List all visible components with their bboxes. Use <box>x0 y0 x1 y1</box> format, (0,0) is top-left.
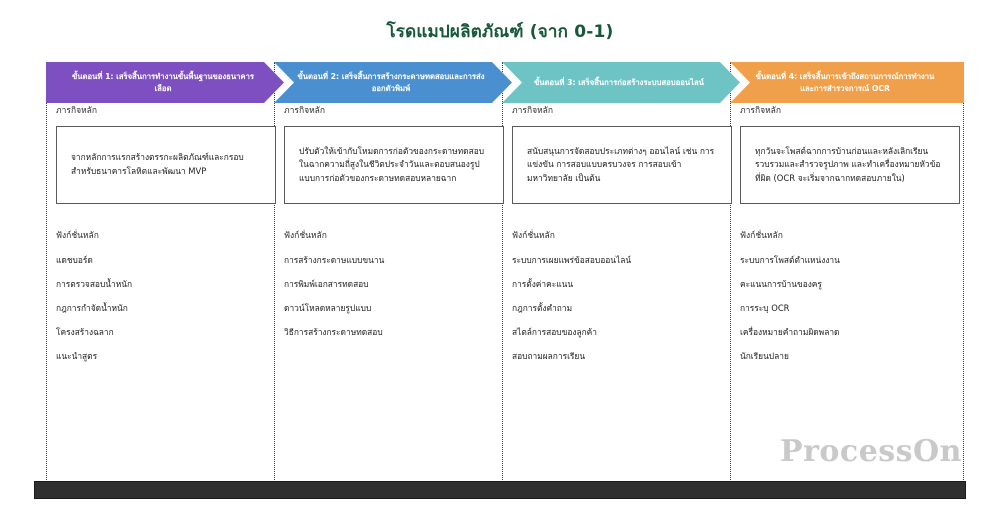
stage-chevron-3-label: ขั้นตอนที่ 3: เสร็จสิ้นการก่อสร้างระบบสอ… <box>512 77 730 88</box>
stage-chevron-band: ขั้นตอนที่ 1: เสร็จสิ้นการทำงานขั้นพื้นฐ… <box>46 62 964 103</box>
list-item: การตรวจสอบน้ำหนัก <box>56 279 276 290</box>
stage-chevron-2-label: ขั้นตอนที่ 2: เสร็จสิ้นการสร้างกระดาษทดส… <box>274 71 512 93</box>
mission-text-2: ปรับตัวให้เข้ากับโหมดการก่อตัวของกระดาษท… <box>299 145 489 186</box>
list-item: แนะนำสูตร <box>56 351 276 362</box>
features-label-2: ฟังก์ชั่นหลัก <box>284 228 504 242</box>
mission-box-3: สนับสนุนการจัดสอบประเภทต่างๆ ออนไลน์ เช่… <box>512 126 732 204</box>
features-label-3: ฟังก์ชั่นหลัก <box>512 228 732 242</box>
mission-box-2: ปรับตัวให้เข้ากับโหมดการก่อตัวของกระดาษท… <box>284 126 504 204</box>
list-item: วิธีการสร้างกระดาษทดสอบ <box>284 327 504 338</box>
mission-label-3: ภารกิจหลัก <box>512 103 732 117</box>
stage-chevron-4-label: ขั้นตอนที่ 4: เสร็จสิ้นการเข้าถึงสถานการ… <box>730 71 964 93</box>
stage-column-3: ภารกิจหลัก สนับสนุนการจัดสอบประเภทต่างๆ … <box>502 103 732 362</box>
list-item: แดชบอร์ด <box>56 255 276 266</box>
feature-list-2: การสร้างกระดาษแบบขนาน การพิมพ์เอกสารทดสอ… <box>274 255 504 338</box>
feature-list-1: แดชบอร์ด การตรวจสอบน้ำหนัก กฎการกำจัดน้ำ… <box>46 255 276 362</box>
mission-label-4: ภารกิจหลัก <box>740 103 960 117</box>
mission-label-1: ภารกิจหลัก <box>56 103 276 117</box>
list-item: การพิมพ์เอกสารทดสอบ <box>284 279 504 290</box>
features-label-1: ฟังก์ชั่นหลัก <box>56 228 276 242</box>
list-item: นักเรียนปลาย <box>740 351 960 362</box>
list-item: คะแนนการบ้านของครู <box>740 279 960 290</box>
list-item: ระบบการเผยแพร่ข้อสอบออนไลน์ <box>512 255 732 266</box>
feature-list-3: ระบบการเผยแพร่ข้อสอบออนไลน์ การตั้งค่าคะ… <box>502 255 732 362</box>
bottom-bar <box>34 481 966 499</box>
list-item: โครงสร้างฉลาก <box>56 327 276 338</box>
stage-column-2: ภารกิจหลัก ปรับตัวให้เข้ากับโหมดการก่อตั… <box>274 103 504 338</box>
feature-list-4: ระบบการโพสต์ตำแหน่งงาน คะแนนการบ้านของคร… <box>730 255 960 362</box>
mission-box-4: ทุกวันจะโพสต์ฉากการบ้านก่อนและหลังเลิกเร… <box>740 126 960 204</box>
stage-column-4: ภารกิจหลัก ทุกวันจะโพสต์ฉากการบ้านก่อนแล… <box>730 103 960 362</box>
mission-text-1: จากหลักการแรกสร้างตรรกะผลิตภัณฑ์และกรอบส… <box>71 151 261 178</box>
mission-text-3: สนับสนุนการจัดสอบประเภทต่างๆ ออนไลน์ เช่… <box>527 145 717 186</box>
stage-chevron-3[interactable]: ขั้นตอนที่ 3: เสร็จสิ้นการก่อสร้างระบบสอ… <box>502 62 740 103</box>
list-item: สอบถามผลการเรียน <box>512 351 732 362</box>
features-label-4: ฟังก์ชั่นหลัก <box>740 228 960 242</box>
list-item: การระบุ OCR <box>740 303 960 314</box>
mission-box-1: จากหลักการแรกสร้างตรรกะผลิตภัณฑ์และกรอบส… <box>56 126 276 204</box>
list-item: การตั้งค่าคะแนน <box>512 279 732 290</box>
list-item: กฎการตั้งคำถาม <box>512 303 732 314</box>
roadmap-canvas: โรดแมปผลิตภัณฑ์ (จาก 0-1) ขั้นตอนที่ 1: … <box>0 0 1000 521</box>
processon-watermark: ProcessOn <box>780 434 962 469</box>
stage-chevron-2[interactable]: ขั้นตอนที่ 2: เสร็จสิ้นการสร้างกระดาษทดส… <box>274 62 512 103</box>
mission-label-2: ภารกิจหลัก <box>284 103 504 117</box>
list-item: การสร้างกระดาษแบบขนาน <box>284 255 504 266</box>
stage-chevron-1-label: ขั้นตอนที่ 1: เสร็จสิ้นการทำงานขั้นพื้นฐ… <box>46 71 284 93</box>
mission-text-4: ทุกวันจะโพสต์ฉากการบ้านก่อนและหลังเลิกเร… <box>755 145 945 186</box>
stage-chevron-4[interactable]: ขั้นตอนที่ 4: เสร็จสิ้นการเข้าถึงสถานการ… <box>730 62 964 103</box>
list-item: กฎการกำจัดน้ำหนัก <box>56 303 276 314</box>
page-title: โรดแมปผลิตภัณฑ์ (จาก 0-1) <box>0 18 1000 45</box>
column-separator-right <box>963 62 964 486</box>
list-item: เครื่องหมายคำถามผิดพลาด <box>740 327 960 338</box>
stage-column-1: ภารกิจหลัก จากหลักการแรกสร้างตรรกะผลิตภั… <box>46 103 276 362</box>
list-item: ดาวน์โหลดหลายรูปแบบ <box>284 303 504 314</box>
list-item: สไตล์การสอบของลูกค้า <box>512 327 732 338</box>
stage-chevron-1[interactable]: ขั้นตอนที่ 1: เสร็จสิ้นการทำงานขั้นพื้นฐ… <box>46 62 284 103</box>
list-item: ระบบการโพสต์ตำแหน่งงาน <box>740 255 960 266</box>
